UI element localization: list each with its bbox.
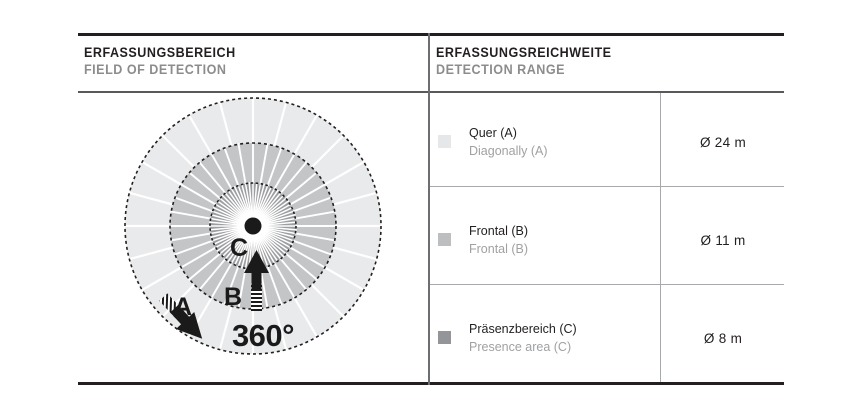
range-value-c: Ø 8 m [704, 331, 742, 346]
angle-label-360: 360° [232, 318, 294, 353]
zone-label-b: B [224, 283, 242, 311]
frame-top-rule [78, 33, 784, 36]
legend-row-quer: Quer (A) Diagonally (A) [438, 93, 653, 191]
detection-range-header: ERFASSUNGSREICHWEITE DETECTION RANGE [436, 44, 625, 78]
legend-label-en: Diagonally (A) [469, 144, 548, 158]
range-value-a: Ø 24 m [700, 135, 746, 150]
range-value-cell-b: Ø 11 m [662, 191, 784, 289]
legend-label-de: Quer (A) [469, 126, 517, 140]
header-title-en: DETECTION RANGE [436, 61, 612, 78]
legend-text-a: Quer (A) Diagonally (A) [469, 124, 548, 160]
zone-label-c: C [230, 234, 248, 262]
range-value-cell-c: Ø 8 m [662, 289, 784, 387]
header-title-de: ERFASSUNGSBEREICH [84, 44, 236, 61]
range-value-b: Ø 11 m [700, 233, 745, 248]
spec-sheet: ERFASSUNGSBEREICH FIELD OF DETECTION ERF… [78, 33, 784, 385]
field-of-detection-header: ERFASSUNGSBEREICH FIELD OF DETECTION [84, 44, 247, 78]
panel-divider [428, 33, 430, 385]
legend-text-c: Präsenzbereich (C) Presence area (C) [469, 320, 577, 356]
legend-row-praesenzbereich: Präsenzbereich (C) Presence area (C) [438, 289, 653, 387]
header-title-en: FIELD OF DETECTION [84, 61, 236, 78]
range-value-cell-a: Ø 24 m [662, 93, 784, 191]
legend-swatch-a [438, 135, 451, 148]
header-title-de: ERFASSUNGSREICHWEITE [436, 44, 612, 61]
legend-swatch-c [438, 331, 451, 344]
sensor-center-dot [245, 218, 262, 235]
legend-label-en: Frontal (B) [469, 242, 528, 256]
legend-label-en: Presence area (C) [469, 340, 571, 354]
legend-swatch-b [438, 233, 451, 246]
legend-label-de: Frontal (B) [469, 224, 528, 238]
legend-label-de: Präsenzbereich (C) [469, 322, 577, 336]
legend-text-b: Frontal (B) Frontal (B) [469, 222, 528, 258]
detection-field-diagram: C B A 360° [78, 93, 428, 383]
legend-row-frontal: Frontal (B) Frontal (B) [438, 191, 653, 289]
value-column-divider [660, 93, 661, 382]
